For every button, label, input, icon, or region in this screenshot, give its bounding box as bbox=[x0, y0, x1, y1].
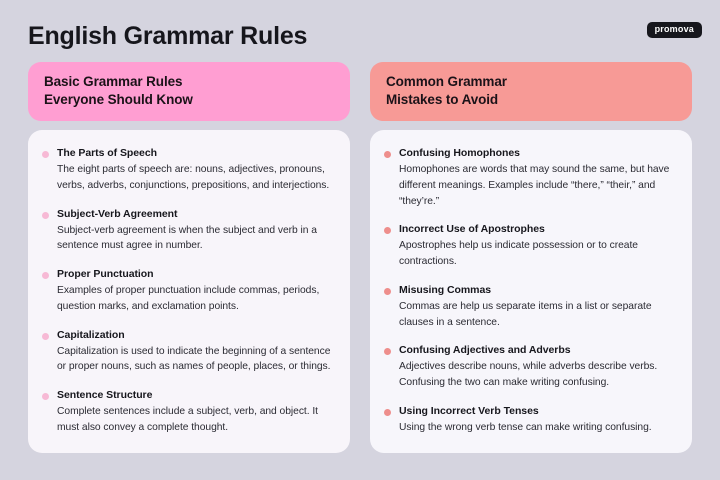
list-item-text: Sentence Structure Complete sentences in… bbox=[57, 388, 334, 435]
card-header-basic-grammar-rules: Basic Grammar Rules Everyone Should Know bbox=[28, 62, 350, 121]
bullet-icon bbox=[42, 212, 49, 219]
list-item: Subject-Verb Agreement Subject-verb agre… bbox=[42, 207, 334, 254]
list-item-title: The Parts of Speech bbox=[57, 146, 334, 160]
promova-logo-badge: promova bbox=[647, 22, 702, 38]
list-item: Misusing Commas Commas are help us separ… bbox=[384, 283, 676, 330]
columns-container: Basic Grammar Rules Everyone Should Know… bbox=[28, 62, 692, 453]
list-item-description: Adjectives describe nouns, while adverbs… bbox=[399, 359, 676, 390]
bullet-icon bbox=[384, 288, 391, 295]
list-item-text: Confusing Homophones Homophones are word… bbox=[399, 146, 676, 209]
list-item: Incorrect Use of Apostrophes Apostrophes… bbox=[384, 222, 676, 269]
list-item-text: Subject-Verb Agreement Subject-verb agre… bbox=[57, 207, 334, 254]
list-item-title: Subject-Verb Agreement bbox=[57, 207, 334, 221]
list-item: Proper Punctuation Examples of proper pu… bbox=[42, 267, 334, 314]
list-item-title: Incorrect Use of Apostrophes bbox=[399, 222, 676, 236]
list-item: Confusing Adjectives and Adverbs Adjecti… bbox=[384, 343, 676, 390]
list-item-description: Capitalization is used to indicate the b… bbox=[57, 344, 334, 375]
list-item: Using Incorrect Verb Tenses Using the wr… bbox=[384, 404, 676, 436]
bullet-icon bbox=[384, 227, 391, 234]
list-item-description: Subject-verb agreement is when the subje… bbox=[57, 223, 334, 254]
column-common-grammar-mistakes: Common Grammar Mistakes to Avoid Confusi… bbox=[370, 62, 692, 453]
list-item: The Parts of Speech The eight parts of s… bbox=[42, 146, 334, 193]
column-basic-grammar-rules: Basic Grammar Rules Everyone Should Know… bbox=[28, 62, 350, 453]
list-item-text: Capitalization Capitalization is used to… bbox=[57, 328, 334, 375]
list-item: Confusing Homophones Homophones are word… bbox=[384, 146, 676, 209]
list-item-title: Confusing Adjectives and Adverbs bbox=[399, 343, 676, 357]
list-item-description: The eight parts of speech are: nouns, ad… bbox=[57, 162, 334, 193]
page-title: English Grammar Rules bbox=[28, 22, 307, 51]
list-item-text: Misusing Commas Commas are help us separ… bbox=[399, 283, 676, 330]
list-item-text: Incorrect Use of Apostrophes Apostrophes… bbox=[399, 222, 676, 269]
card-header-line-2: Mistakes to Avoid bbox=[386, 91, 676, 109]
card-body-basic-grammar-rules: The Parts of Speech The eight parts of s… bbox=[28, 130, 350, 453]
list-item-description: Commas are help us separate items in a l… bbox=[399, 299, 676, 330]
bullet-icon bbox=[42, 151, 49, 158]
list-item-text: The Parts of Speech The eight parts of s… bbox=[57, 146, 334, 193]
list-item-title: Sentence Structure bbox=[57, 388, 334, 402]
bullet-icon bbox=[384, 409, 391, 416]
list-item-title: Proper Punctuation bbox=[57, 267, 334, 281]
list-item-description: Examples of proper punctuation include c… bbox=[57, 283, 334, 314]
bullet-icon bbox=[42, 272, 49, 279]
bullet-icon bbox=[384, 348, 391, 355]
list-item-description: Complete sentences include a subject, ve… bbox=[57, 404, 334, 435]
list-item-text: Confusing Adjectives and Adverbs Adjecti… bbox=[399, 343, 676, 390]
list-item-text: Using Incorrect Verb Tenses Using the wr… bbox=[399, 404, 676, 436]
list-item-description: Apostrophes help us indicate possession … bbox=[399, 238, 676, 269]
list-item-text: Proper Punctuation Examples of proper pu… bbox=[57, 267, 334, 314]
list-item: Sentence Structure Complete sentences in… bbox=[42, 388, 334, 435]
card-header-line-1: Basic Grammar Rules bbox=[44, 73, 334, 91]
card-body-common-grammar-mistakes: Confusing Homophones Homophones are word… bbox=[370, 130, 692, 453]
card-header-line-1: Common Grammar bbox=[386, 73, 676, 91]
bullet-icon bbox=[42, 333, 49, 340]
card-header-line-2: Everyone Should Know bbox=[44, 91, 334, 109]
bullet-icon bbox=[42, 393, 49, 400]
list-item-description: Using the wrong verb tense can make writ… bbox=[399, 420, 676, 436]
card-header-common-grammar-mistakes: Common Grammar Mistakes to Avoid bbox=[370, 62, 692, 121]
list-item-title: Using Incorrect Verb Tenses bbox=[399, 404, 676, 418]
bullet-icon bbox=[384, 151, 391, 158]
list-item: Capitalization Capitalization is used to… bbox=[42, 328, 334, 375]
list-item-title: Misusing Commas bbox=[399, 283, 676, 297]
list-item-title: Capitalization bbox=[57, 328, 334, 342]
list-item-title: Confusing Homophones bbox=[399, 146, 676, 160]
list-item-description: Homophones are words that may sound the … bbox=[399, 162, 676, 209]
